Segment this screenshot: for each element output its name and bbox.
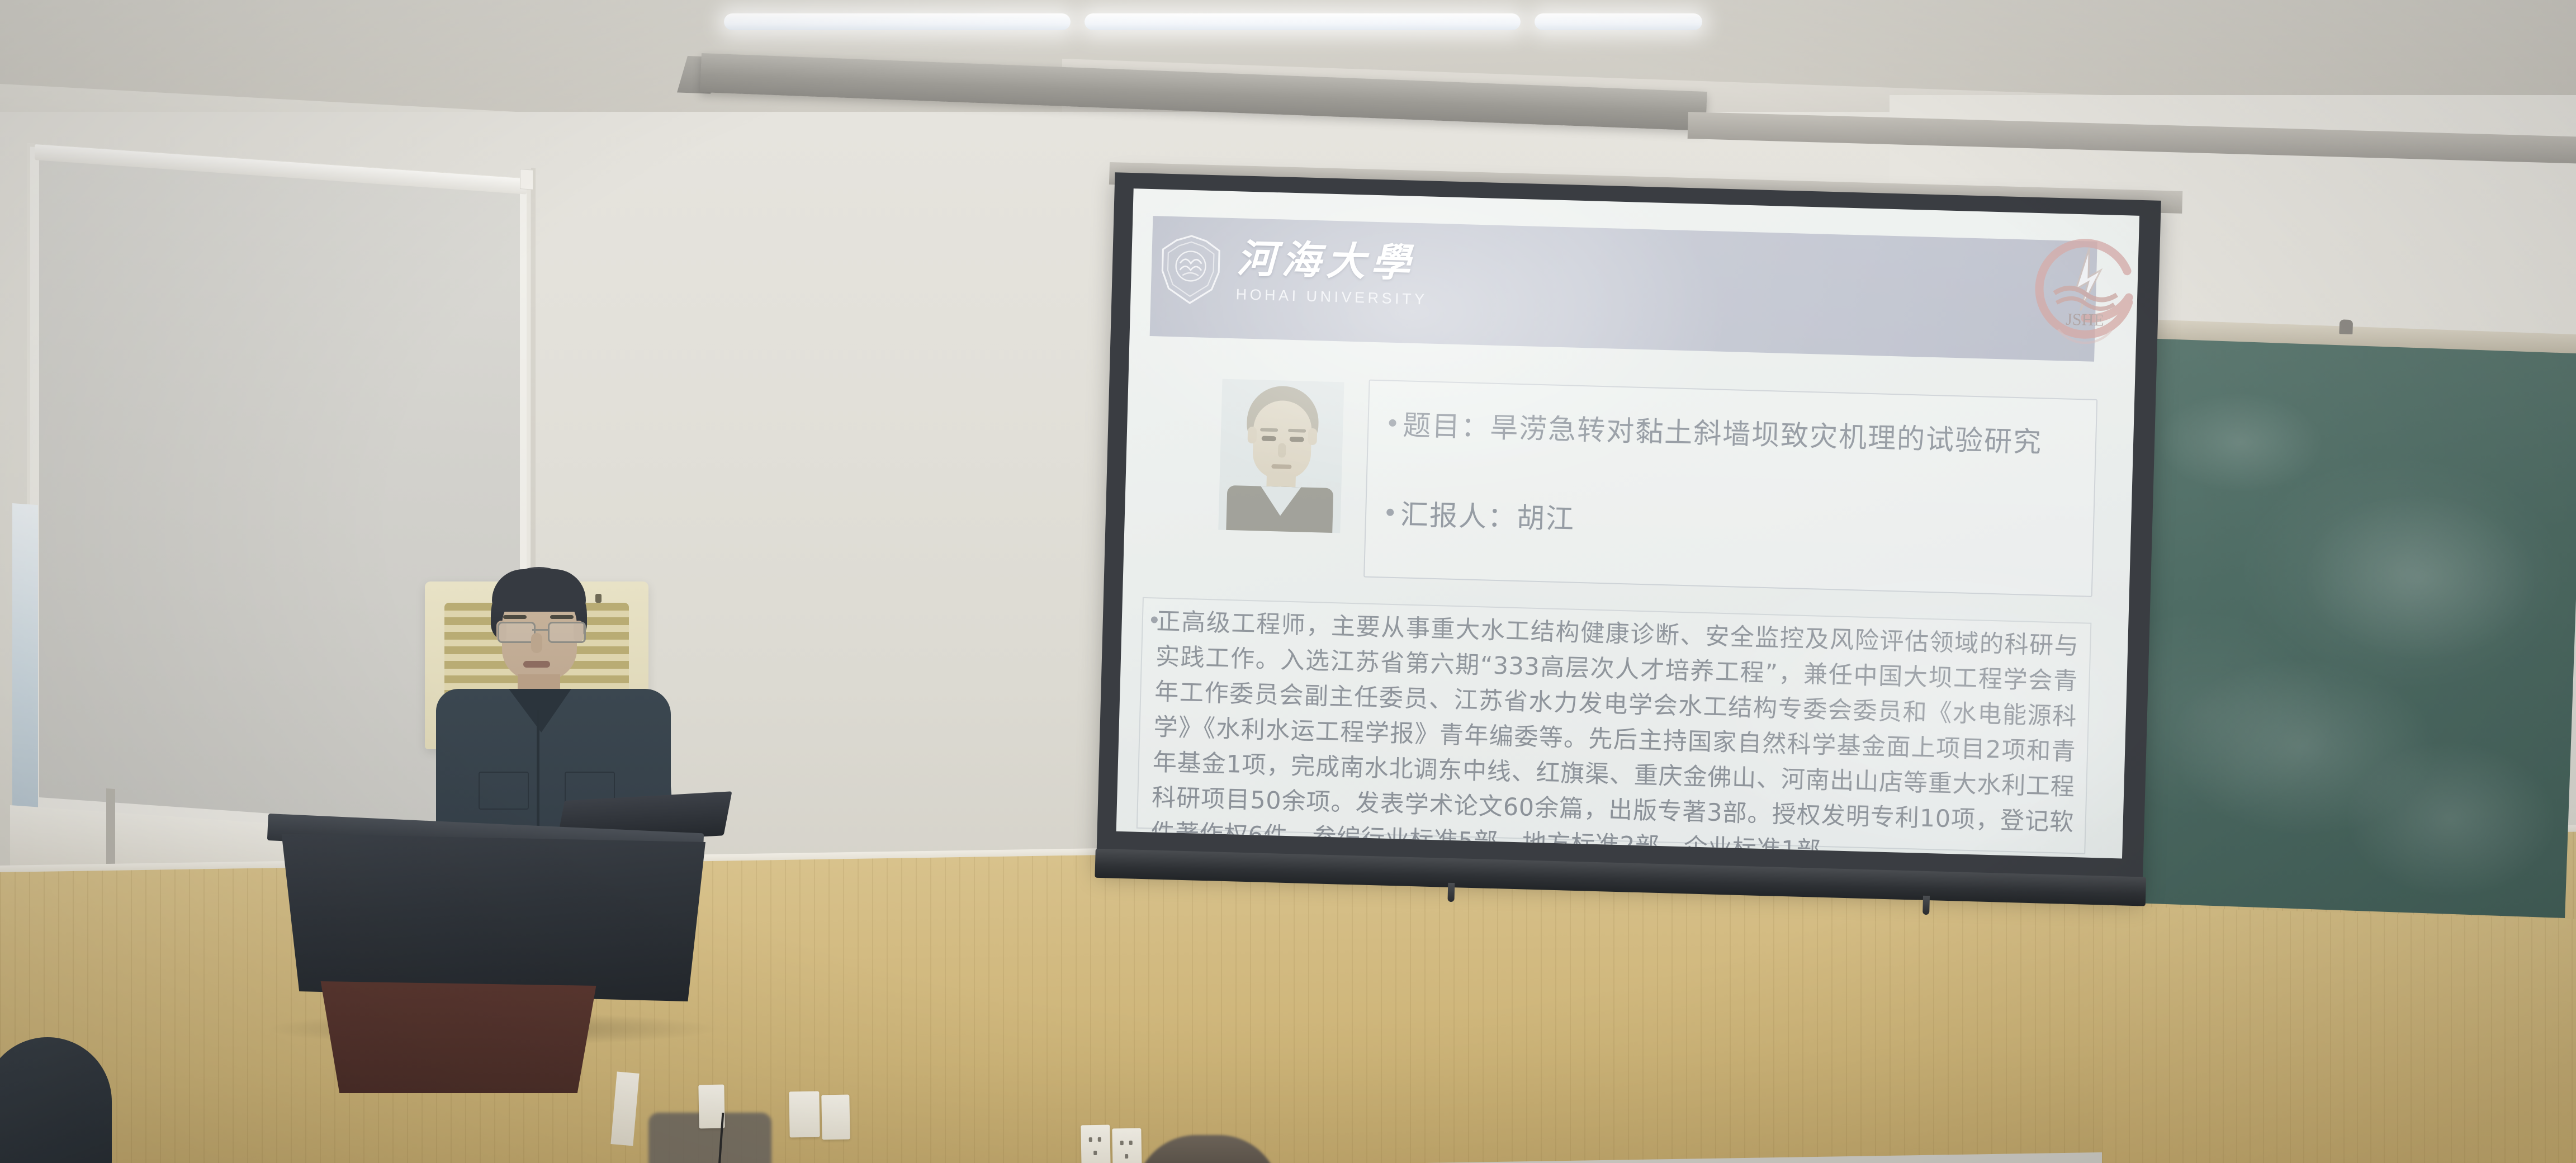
slide-speaker-text: 汇报人：胡江 [1400, 492, 1575, 537]
slide-speaker-line: 汇报人：胡江 [1386, 492, 1575, 537]
fluorescent-tube-1 [724, 13, 1071, 30]
wood-panel-wainscot-right [2102, 906, 2576, 1163]
portrait-ear-left [1247, 427, 1257, 443]
fluorescent-tube-3 [1535, 13, 1702, 30]
chalkboard-mount-knob [2339, 319, 2353, 334]
screen-weight-hook [1447, 883, 1455, 902]
power-outlet[interactable] [1081, 1125, 1110, 1163]
projection-screen-canvas: 河海大學 HOHAI UNIVERSITY JSHE [1116, 188, 2139, 858]
hohai-university-wordmark: 河海大學 HOHAI UNIVERSITY [1235, 240, 1429, 307]
socket-hole [1093, 1151, 1097, 1155]
bullet-dot-icon [1389, 419, 1396, 427]
hohai-name-cn: 河海大學 [1236, 240, 1429, 284]
chalk-smudge [2300, 489, 2540, 665]
portrait-eyebrow-right [1288, 429, 1306, 433]
presenter-eyebrow-left [503, 615, 527, 619]
hohai-name-en: HOHAI UNIVERSITY [1235, 287, 1428, 307]
socket-hole [1089, 1137, 1092, 1142]
jshe-logo-text: JSHE [2066, 310, 2104, 330]
portrait-ear-right [1308, 428, 1317, 445]
presenter-portrait-photo [1218, 379, 1344, 533]
presenter-jacket-pocket-left [479, 772, 529, 810]
portrait-eyebrow-left [1260, 428, 1278, 432]
green-chalkboard [2107, 338, 2576, 918]
slide-bio-text: 正高级工程师，主要从事重大水工结构健康诊断、安全监控及风险评估领域的科研与实践工… [1150, 604, 2079, 859]
glasses-lens-left [498, 622, 536, 643]
light-switch[interactable] [821, 1095, 850, 1140]
presenter-nose [531, 633, 542, 653]
presenter-mouth [523, 661, 550, 668]
fluorescent-tube-2 [1085, 13, 1521, 30]
light-switch[interactable] [789, 1091, 820, 1138]
lectern-base [302, 981, 615, 1093]
glasses-bridge [532, 629, 548, 631]
portrait-mouth [1271, 464, 1291, 469]
hohai-university-crest-icon [1156, 233, 1225, 306]
portrait-eye-right [1290, 437, 1304, 442]
socket-hole [1125, 1154, 1128, 1159]
bullet-dot-icon [1386, 509, 1394, 516]
socket-hole [1098, 1137, 1101, 1142]
screen-weight-hook [1922, 896, 1930, 915]
socket-hole [1120, 1141, 1124, 1145]
hohai-university-logo: 河海大學 HOHAI UNIVERSITY [1156, 233, 1429, 311]
window-glass-strip [12, 503, 38, 818]
blind-end-cap [520, 169, 533, 190]
portrait-eye-left [1262, 436, 1276, 442]
classroom-presentation-photo: 河海大學 HOHAI UNIVERSITY JSHE [0, 0, 2576, 1163]
glasses-lens-right [548, 622, 586, 643]
socket-hole [1129, 1141, 1133, 1145]
chalk-smudge [2154, 389, 2326, 495]
slide: 河海大學 HOHAI UNIVERSITY JSHE [1116, 188, 2139, 858]
presenter-eyebrow-right [550, 615, 574, 619]
jshe-society-logo-icon: JSHE [2024, 225, 2139, 348]
presenter-fringe [492, 569, 586, 612]
lectern-front-panel [264, 834, 705, 1001]
lectern [268, 814, 704, 1037]
projection-screen: 河海大學 HOHAI UNIVERSITY JSHE [1090, 162, 2182, 912]
portrait-nose [1278, 443, 1286, 457]
power-outlet[interactable] [1112, 1128, 1142, 1163]
